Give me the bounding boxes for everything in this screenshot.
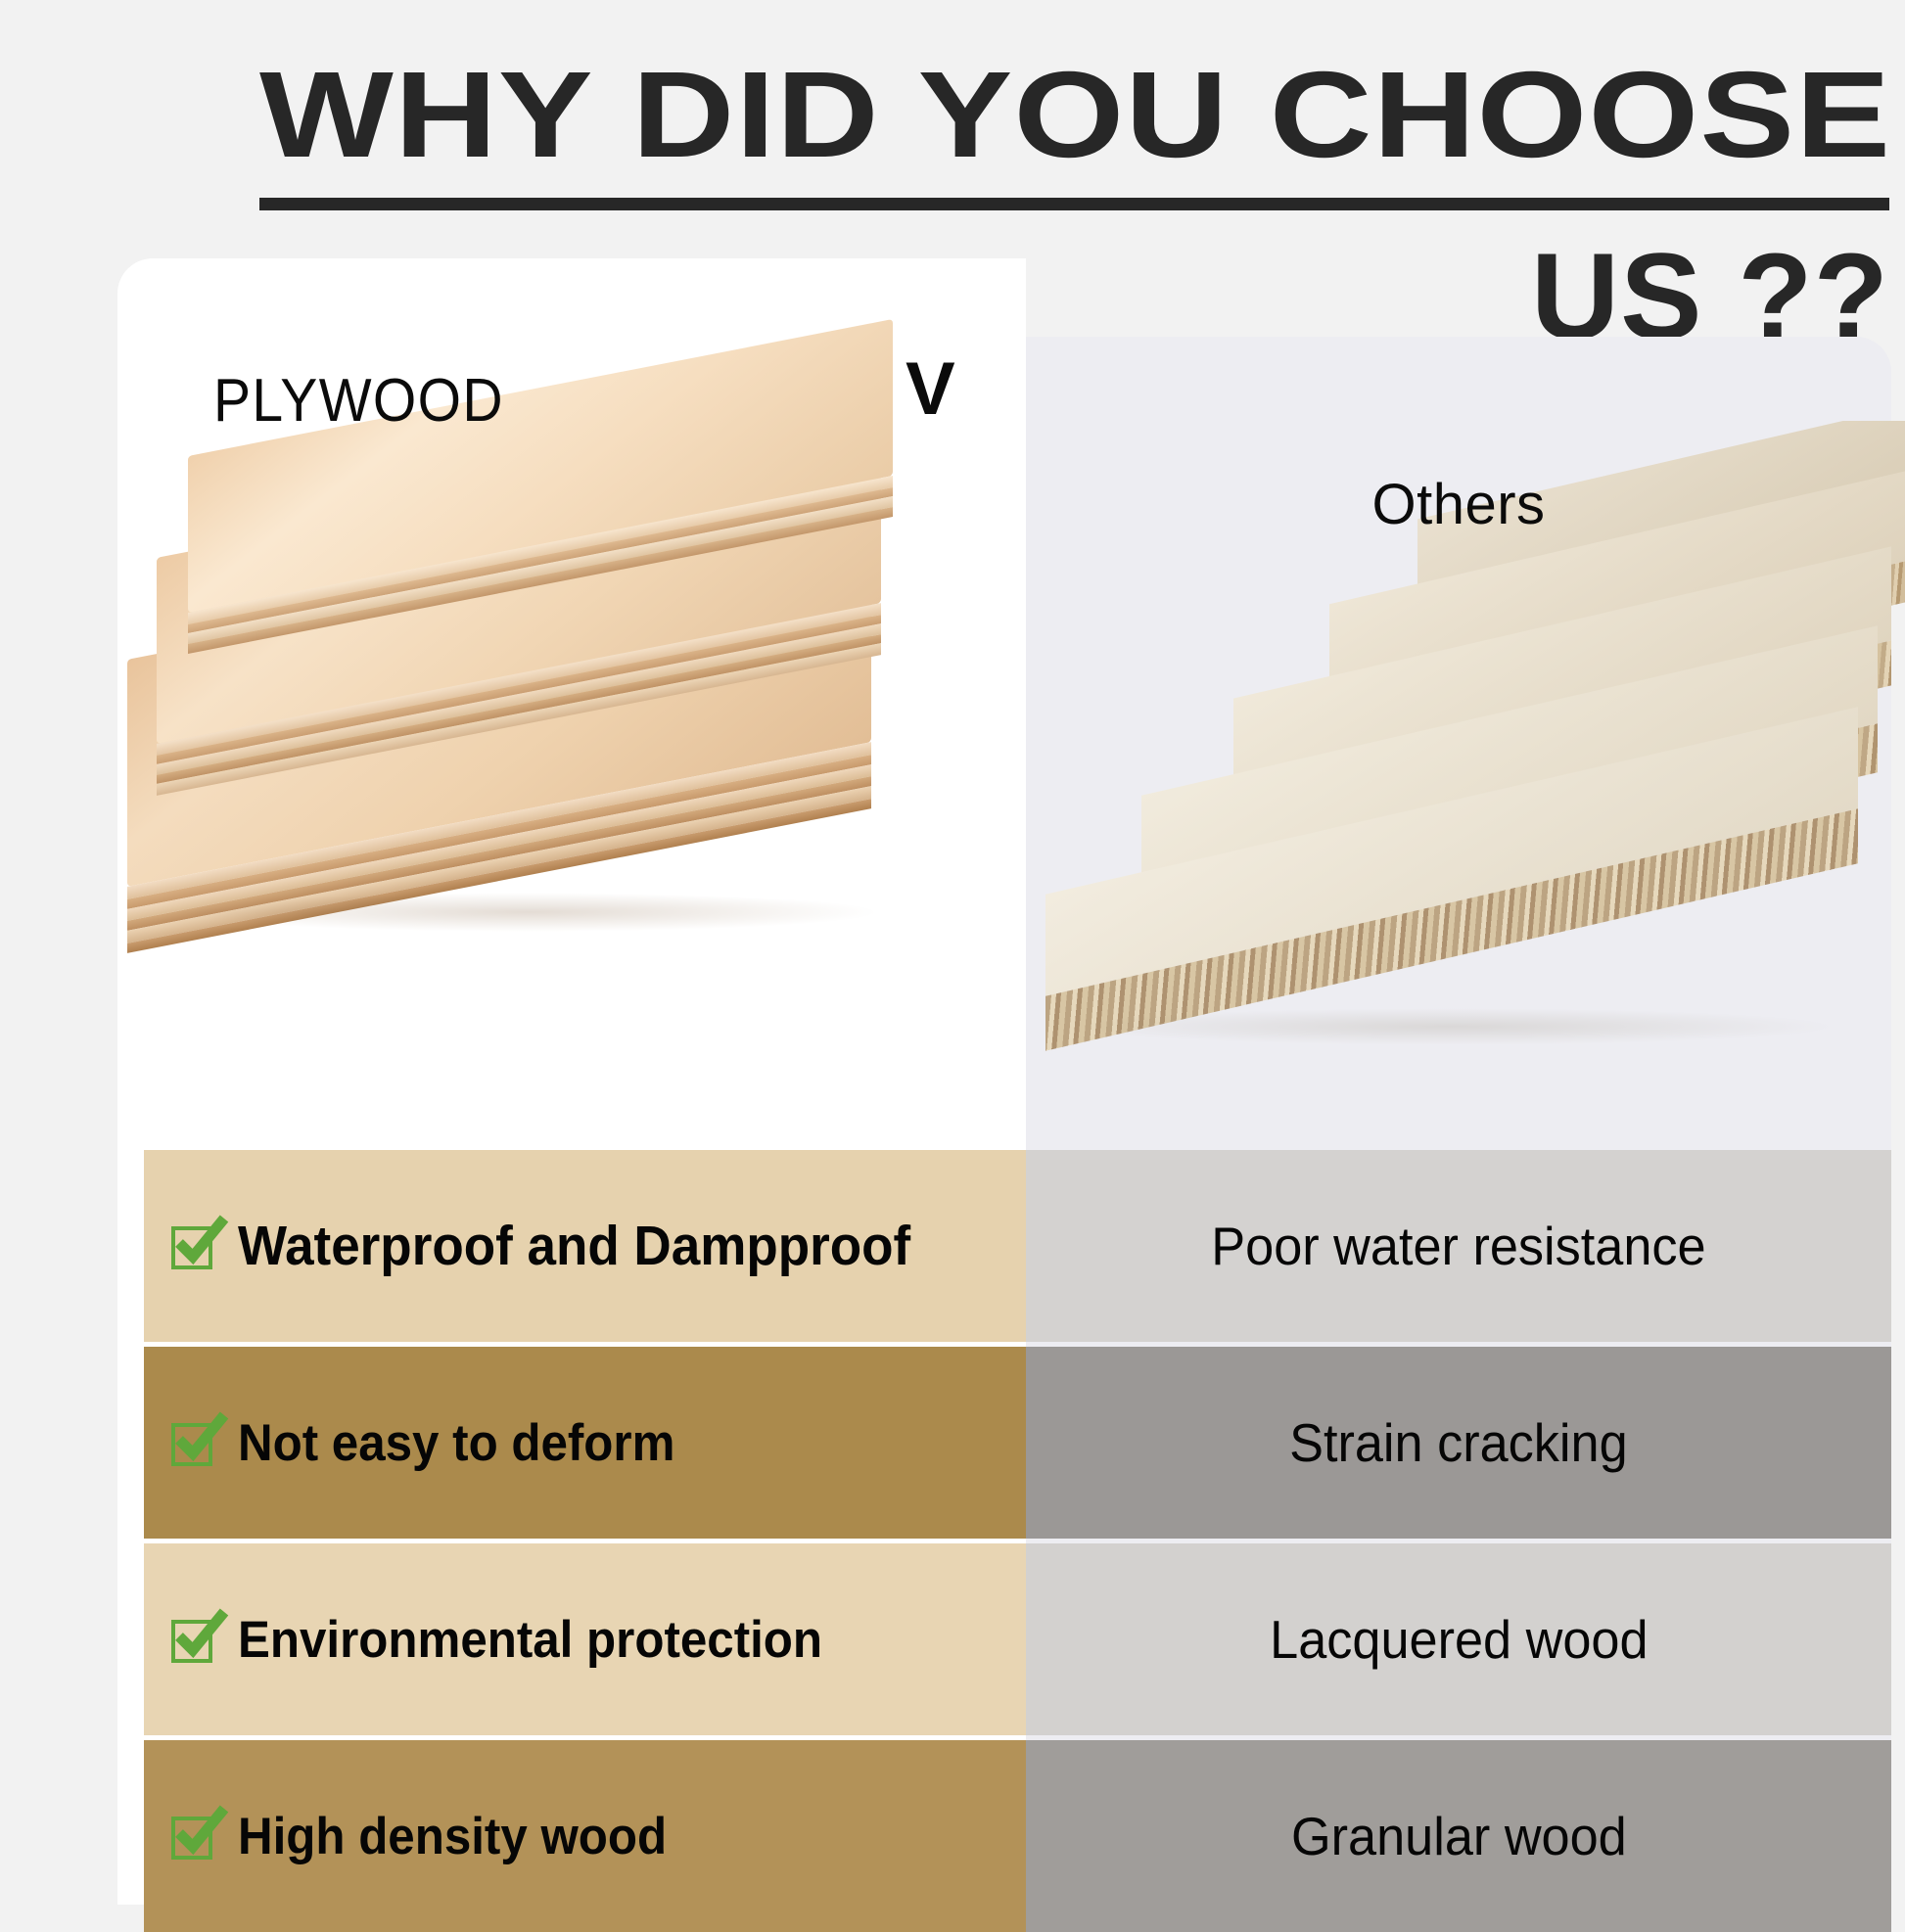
row-label-others: Lacquered wood xyxy=(1270,1608,1648,1671)
row-cell-others: Poor water resistance xyxy=(1026,1150,1891,1342)
row-cell-plywood: Not easy to deform xyxy=(144,1347,1026,1539)
row-label-plywood: Environmental protection xyxy=(238,1610,822,1670)
table-row: Environmental protection Lacquered wood xyxy=(117,1543,1891,1735)
check-icon xyxy=(171,1813,216,1860)
check-icon xyxy=(171,1616,216,1663)
row-cell-others: Granular wood xyxy=(1026,1740,1891,1932)
table-row: Waterproof and Dampproof Poor water resi… xyxy=(117,1150,1891,1342)
row-label-others: Strain cracking xyxy=(1289,1411,1628,1474)
row-label-others: Granular wood xyxy=(1291,1805,1627,1867)
row-label-others: Poor water resistance xyxy=(1211,1215,1705,1277)
row-cell-plywood: High density wood xyxy=(144,1740,1026,1932)
row-cell-others: Strain cracking xyxy=(1026,1347,1891,1539)
row-cell-others: Lacquered wood xyxy=(1026,1543,1891,1735)
table-row: Not easy to deform Strain cracking xyxy=(117,1347,1891,1539)
check-icon xyxy=(171,1419,216,1466)
table-row: High density wood Granular wood xyxy=(117,1740,1891,1932)
row-label-plywood: High density wood xyxy=(238,1807,667,1866)
row-label-plywood: Not easy to deform xyxy=(238,1413,674,1473)
row-cell-plywood: Waterproof and Dampproof xyxy=(144,1150,1026,1342)
row-cell-plywood: Environmental protection xyxy=(144,1543,1026,1735)
check-icon xyxy=(171,1222,216,1269)
checkmark-glyph xyxy=(169,1407,230,1468)
checkmark-glyph xyxy=(169,1604,230,1665)
infographic-canvas: WHY DID YOU CHOOSE US ?? xyxy=(0,0,1905,1905)
row-label-plywood: Waterproof and Dampproof xyxy=(238,1214,910,1278)
comparison-table: Waterproof and Dampproof Poor water resi… xyxy=(0,0,1905,1905)
checkmark-glyph xyxy=(169,1801,230,1862)
checkmark-glyph xyxy=(169,1211,230,1271)
